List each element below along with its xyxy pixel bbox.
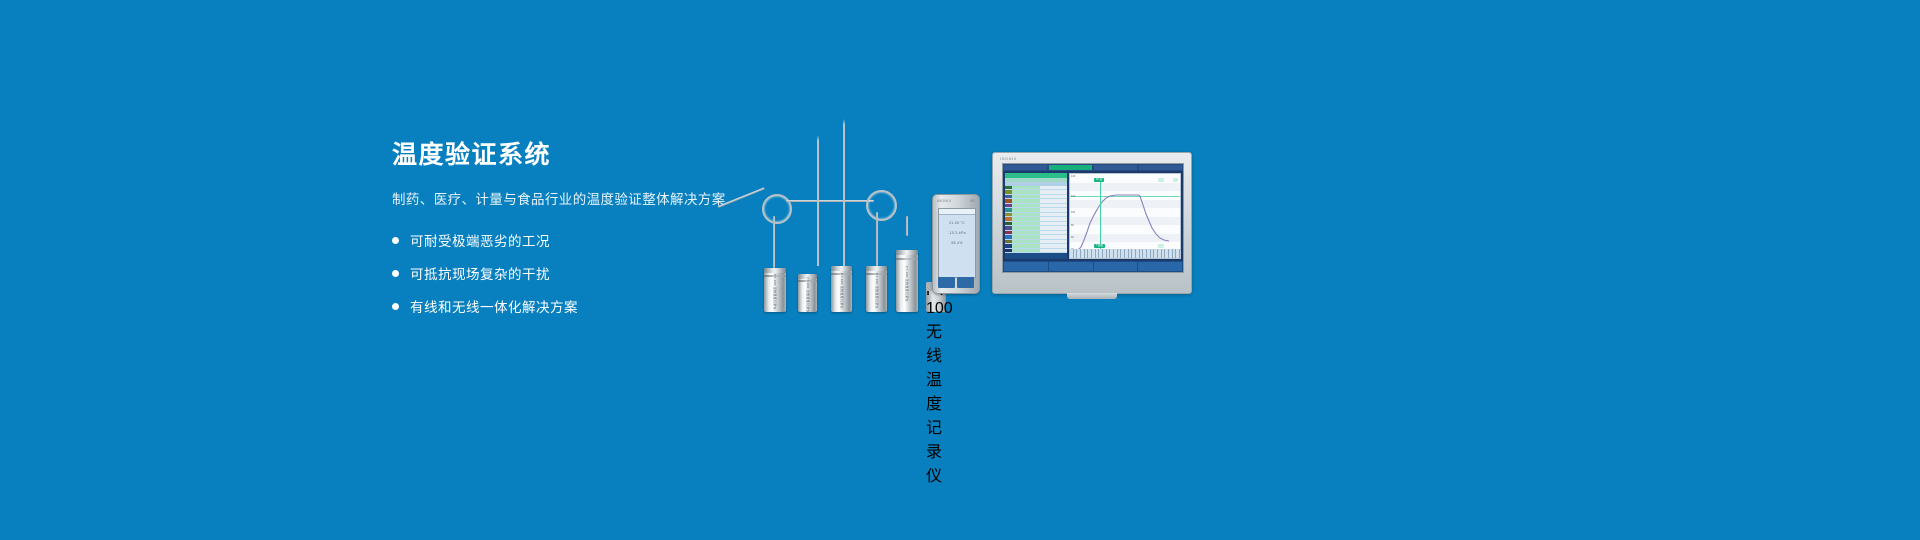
probe-wire [718, 187, 765, 207]
channel-swatch [1005, 222, 1012, 225]
bullet-dot-icon [392, 270, 399, 277]
channel-swatch [1005, 226, 1012, 229]
handheld-key-settings[interactable] [957, 277, 974, 288]
channel-swatch [1005, 204, 1012, 207]
cell-value [1040, 190, 1068, 193]
handheld-screen: 21.26 °C -10.3 kPa 98.4% [938, 208, 976, 278]
marker-tag-far-right [1173, 178, 1178, 182]
channel-swatch [1005, 190, 1012, 193]
probe-stem [773, 216, 775, 268]
tab-data-analysis[interactable] [1049, 165, 1092, 170]
channel-swatch [1005, 213, 1012, 216]
feature-label: 可耐受极端恶劣的工况 [410, 230, 550, 250]
cell-channel [1012, 195, 1040, 198]
marker-tag-bottom-right [1158, 244, 1164, 248]
y-tick: 60 [1071, 236, 1074, 239]
y-tick: 140 [1071, 175, 1075, 178]
logger-label: PT-100 无线温度记录仪 [926, 282, 946, 486]
cell-value [1040, 195, 1068, 198]
handheld-brand: INONIX [937, 199, 951, 203]
cursor-tag-top: F0 值 [1094, 178, 1104, 182]
industrial-monitor: INONIX [992, 152, 1192, 294]
cell-channel [1012, 231, 1040, 234]
tick [1176, 249, 1180, 258]
cell-channel [1012, 199, 1040, 202]
cell-channel [1012, 213, 1040, 216]
feature-label: 有线和无线一体化解决方案 [410, 296, 578, 316]
logger-label: PT-100 无线温度记录仪 [773, 274, 777, 310]
needle-probe-icon [817, 142, 819, 266]
data-logger: PT-100 无线温度记录仪 [831, 266, 852, 312]
toolbar-button-acquire[interactable] [1004, 262, 1048, 271]
handheld-keypad[interactable] [938, 277, 974, 288]
tab-help[interactable] [1139, 165, 1182, 170]
chart-cursor[interactable] [1100, 178, 1101, 252]
probe-stem [906, 216, 908, 236]
bullet-dot-icon [392, 237, 399, 244]
y-axis: 140 120 100 80 60 40 [1070, 174, 1078, 258]
channel-swatch [1005, 235, 1012, 238]
channel-swatch [1005, 208, 1012, 211]
data-logger: PT-100 无线温度记录仪 [896, 250, 918, 312]
data-logger: PT-100 无线温度记录仪 [764, 268, 786, 312]
data-table[interactable] [1005, 173, 1067, 259]
probe-wire [786, 200, 874, 202]
cell-value [1040, 231, 1068, 234]
cell-value [1040, 217, 1068, 220]
coiled-probe-icon [762, 194, 792, 224]
data-logger: PT-100 无线温度记录仪 [866, 266, 887, 312]
logger-cap [764, 268, 786, 273]
logger-label: PT-100 无线温度记录仪 [875, 273, 879, 309]
channel-swatch [1005, 199, 1012, 202]
logger-label: PT-100 无线温度记录仪 [905, 266, 909, 302]
monitor-content: F0 值 T 峰值 140 120 100 80 60 40 [1003, 171, 1183, 261]
toolbar-button-curve[interactable] [1049, 262, 1093, 271]
y-tick: 120 [1071, 195, 1075, 198]
logger-label: PT-100 无线温度记录仪 [806, 277, 810, 313]
handheld-statusbar [939, 209, 975, 215]
channel-swatch [1005, 217, 1012, 220]
channel-swatch [1005, 231, 1012, 234]
handheld-model: M1 [970, 199, 975, 203]
cell-channel [1012, 204, 1040, 207]
data-logger: PT-100 无线温度记录仪 [798, 274, 817, 312]
handheld-readout-1: 21.26 °C [939, 221, 975, 225]
monitor-tabbar[interactable] [1003, 164, 1183, 171]
y-tick: 80 [1071, 224, 1074, 227]
table-footer-buttons[interactable] [1005, 253, 1067, 259]
handheld-readout-3: 98.4% [939, 241, 975, 245]
cell-value [1040, 204, 1068, 207]
logger-cap [896, 250, 918, 255]
feature-label: 可抵抗现场复杂的干扰 [410, 263, 550, 283]
handheld-readout-2: -10.3 kPa [939, 231, 975, 235]
handheld-reader[interactable]: INONIX M1 21.26 °C -10.3 kPa 98.4% [932, 194, 980, 294]
channel-swatch [1005, 240, 1012, 243]
cell-value [1040, 199, 1068, 202]
cell-channel [1012, 235, 1040, 238]
cell-channel [1012, 226, 1040, 229]
hero-banner: 温度验证系统 制药、医疗、计量与食品行业的温度验证整体解决方案 可耐受极端恶劣的… [0, 0, 1920, 540]
cell-value [1040, 249, 1068, 252]
cursor-tag-bottom: T 峰值 [1094, 244, 1105, 248]
channel-swatch [1005, 249, 1012, 252]
product-montage: PT-100 无线温度记录仪 PT-100 无线温度记录仪 PT-100 无线温… [700, 120, 1220, 320]
cell-channel [1012, 217, 1040, 220]
monitor-brand: INONIX [1000, 156, 1017, 161]
tab-spacer [1004, 165, 1047, 170]
cell-channel [1012, 244, 1040, 247]
coiled-probe-icon [866, 190, 897, 221]
channel-swatch [1005, 186, 1012, 189]
cell-channel [1012, 222, 1040, 225]
table-body[interactable] [1005, 186, 1067, 253]
y-tick: 100 [1071, 211, 1075, 214]
cell-channel [1012, 249, 1040, 252]
time-axis-ticks [1070, 249, 1180, 258]
cell-channel [1012, 190, 1040, 193]
monitor-stand [1067, 293, 1117, 299]
temperature-chart: F0 值 T 峰值 140 120 100 80 60 40 [1069, 173, 1181, 259]
logger-cap [831, 266, 852, 271]
logger-band [896, 258, 918, 260]
logger-label: PT-100 无线温度记录仪 [840, 273, 844, 309]
logger-cap [866, 266, 887, 271]
cell-value [1040, 186, 1068, 189]
bullet-dot-icon [392, 303, 399, 310]
probe-stem [876, 212, 878, 266]
monitor-screen: F0 值 T 峰值 140 120 100 80 60 40 [1002, 163, 1184, 273]
cell-value [1040, 208, 1068, 211]
toolbar-button-report[interactable] [1094, 262, 1138, 271]
needle-probe-icon [843, 126, 845, 266]
cell-value [1040, 222, 1068, 225]
cell-channel [1012, 186, 1040, 189]
channel-swatch [1005, 244, 1012, 247]
marker-tag-right [1158, 178, 1164, 182]
cell-value [1040, 235, 1068, 238]
monitor-toolbar[interactable] [1003, 261, 1183, 272]
handheld-key-start[interactable] [938, 277, 955, 288]
cell-value [1040, 244, 1068, 247]
cell-channel [1012, 240, 1040, 243]
cell-value [1040, 240, 1068, 243]
cell-value [1040, 213, 1068, 216]
channel-swatch [1005, 195, 1012, 198]
cell-value [1040, 226, 1068, 229]
tab-report[interactable] [1094, 165, 1137, 170]
toolbar-button-exit[interactable] [1138, 262, 1182, 271]
cell-channel [1012, 208, 1040, 211]
